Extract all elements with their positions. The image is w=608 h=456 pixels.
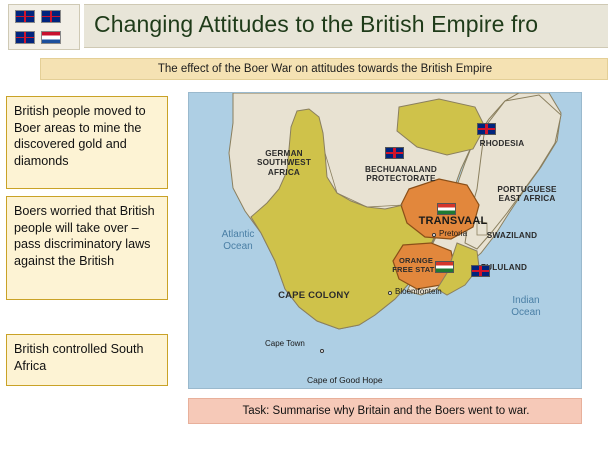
map-label-transvaal: TRANSVAAL xyxy=(413,215,493,228)
map-label-german-southwest-africa: GERMAN SOUTHWEST AFRICA xyxy=(241,149,327,177)
subtitle-text: The effect of the Boer War on attitudes … xyxy=(41,59,608,80)
map-label-portuguese-east-africa: PORTUGUESE EAST AFRICA xyxy=(485,185,569,204)
city-dot-cape-town xyxy=(320,349,324,353)
map-label-cape-of-good-hope: Cape of Good Hope xyxy=(307,375,383,385)
map-label-atlantic-ocean: Atlantic Ocean xyxy=(203,229,273,253)
southern-africa-map: GERMAN SOUTHWEST AFRICA BECHUANALAND PRO… xyxy=(188,92,582,389)
page-title: Changing Attitudes to the British Empire… xyxy=(94,11,538,38)
boer-flag-icon-orange-free-state xyxy=(435,261,454,273)
union-jack-icon-zululand xyxy=(471,265,490,277)
slide-header: Changing Attitudes to the British Empire… xyxy=(0,0,608,54)
union-jack-icon-rhodesia xyxy=(477,123,496,135)
city-label-cape-town: Cape Town xyxy=(265,339,305,348)
map-label-rhodesia: RHODESIA xyxy=(471,139,533,148)
boer-tricolour-icon xyxy=(41,31,61,44)
boer-flag-icon-transvaal xyxy=(437,203,456,215)
city-dot-pretoria xyxy=(432,233,436,237)
callout-box-boer-worries: Boers worried that British people will t… xyxy=(6,196,168,300)
task-banner: Task: Summarise why Britain and the Boer… xyxy=(188,398,582,424)
flag-emblem-block xyxy=(8,4,80,50)
subtitle-banner: The effect of the Boer War on attitudes … xyxy=(40,58,608,80)
union-jack-icon xyxy=(15,31,35,44)
callout-box-british-control: British controlled South Africa xyxy=(6,334,168,386)
union-jack-icon xyxy=(41,10,61,23)
map-label-cape-colony: CAPE COLONY xyxy=(265,291,363,302)
map-label-indian-ocean: Indian Ocean xyxy=(497,295,555,319)
map-label-swaziland: SWAZILAND xyxy=(481,231,543,240)
task-text: Task: Summarise why Britain and the Boer… xyxy=(189,399,583,424)
union-jack-icon xyxy=(15,10,35,23)
callout-box-gold-mining: British people moved to Boer areas to mi… xyxy=(6,96,168,189)
city-label-pretoria: Pretoria xyxy=(439,229,467,238)
map-label-bechuanaland-protectorate: BECHUANALAND PROTECTORATE xyxy=(355,165,447,184)
city-label-bloemfontein: Bloemfontein xyxy=(395,287,442,296)
union-jack-icon-bechuanaland xyxy=(385,147,404,159)
city-dot-bloemfontein xyxy=(388,291,392,295)
title-banner: Changing Attitudes to the British Empire… xyxy=(84,4,608,48)
